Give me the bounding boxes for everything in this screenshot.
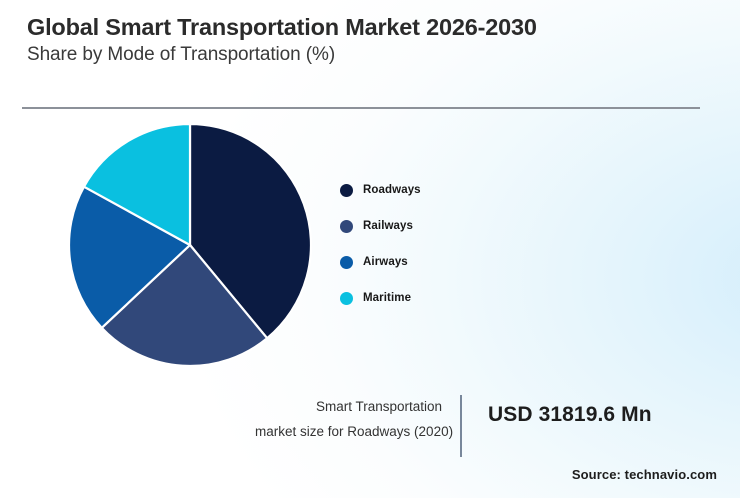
legend-item-label: Airways xyxy=(363,256,408,268)
legend-item[interactable]: Railways xyxy=(340,208,520,244)
legend-item[interactable]: Maritime xyxy=(340,280,520,316)
callout-description: Smart Transportation market size for Roa… xyxy=(255,395,460,445)
header-divider xyxy=(22,107,700,109)
callout-value: USD 31819.6 Mn xyxy=(488,403,652,427)
chart-subtitle: Share by Mode of Transportation (%) xyxy=(27,44,703,67)
callout-value-wrap: USD 31819.6 Mn xyxy=(462,395,652,427)
legend-item-label: Maritime xyxy=(363,292,411,304)
legend-item-label: Roadways xyxy=(363,184,421,196)
callout-line-2: market size for Roadways (2020) xyxy=(255,420,442,445)
infographic-canvas: Global Smart Transportation Market 2026-… xyxy=(0,0,740,498)
chart-header: Global Smart Transportation Market 2026-… xyxy=(27,14,703,67)
callout-line-1: Smart Transportation xyxy=(255,395,442,420)
legend-swatch-icon xyxy=(340,220,353,233)
legend-swatch-icon xyxy=(340,292,353,305)
legend-item-label: Railways xyxy=(363,220,413,232)
page-title: Global Smart Transportation Market 2026-… xyxy=(27,14,703,41)
pie-chart-svg xyxy=(69,124,311,366)
legend-item[interactable]: Airways xyxy=(340,244,520,280)
legend-swatch-icon xyxy=(340,184,353,197)
pie-chart xyxy=(69,124,311,366)
chart-legend: RoadwaysRailwaysAirwaysMaritime xyxy=(340,172,520,316)
legend-item[interactable]: Roadways xyxy=(340,172,520,208)
source-attribution: Source: technavio.com xyxy=(572,467,717,482)
callout-block: Smart Transportation market size for Roa… xyxy=(255,395,705,457)
legend-swatch-icon xyxy=(340,256,353,269)
pie-slice-group xyxy=(69,124,311,366)
